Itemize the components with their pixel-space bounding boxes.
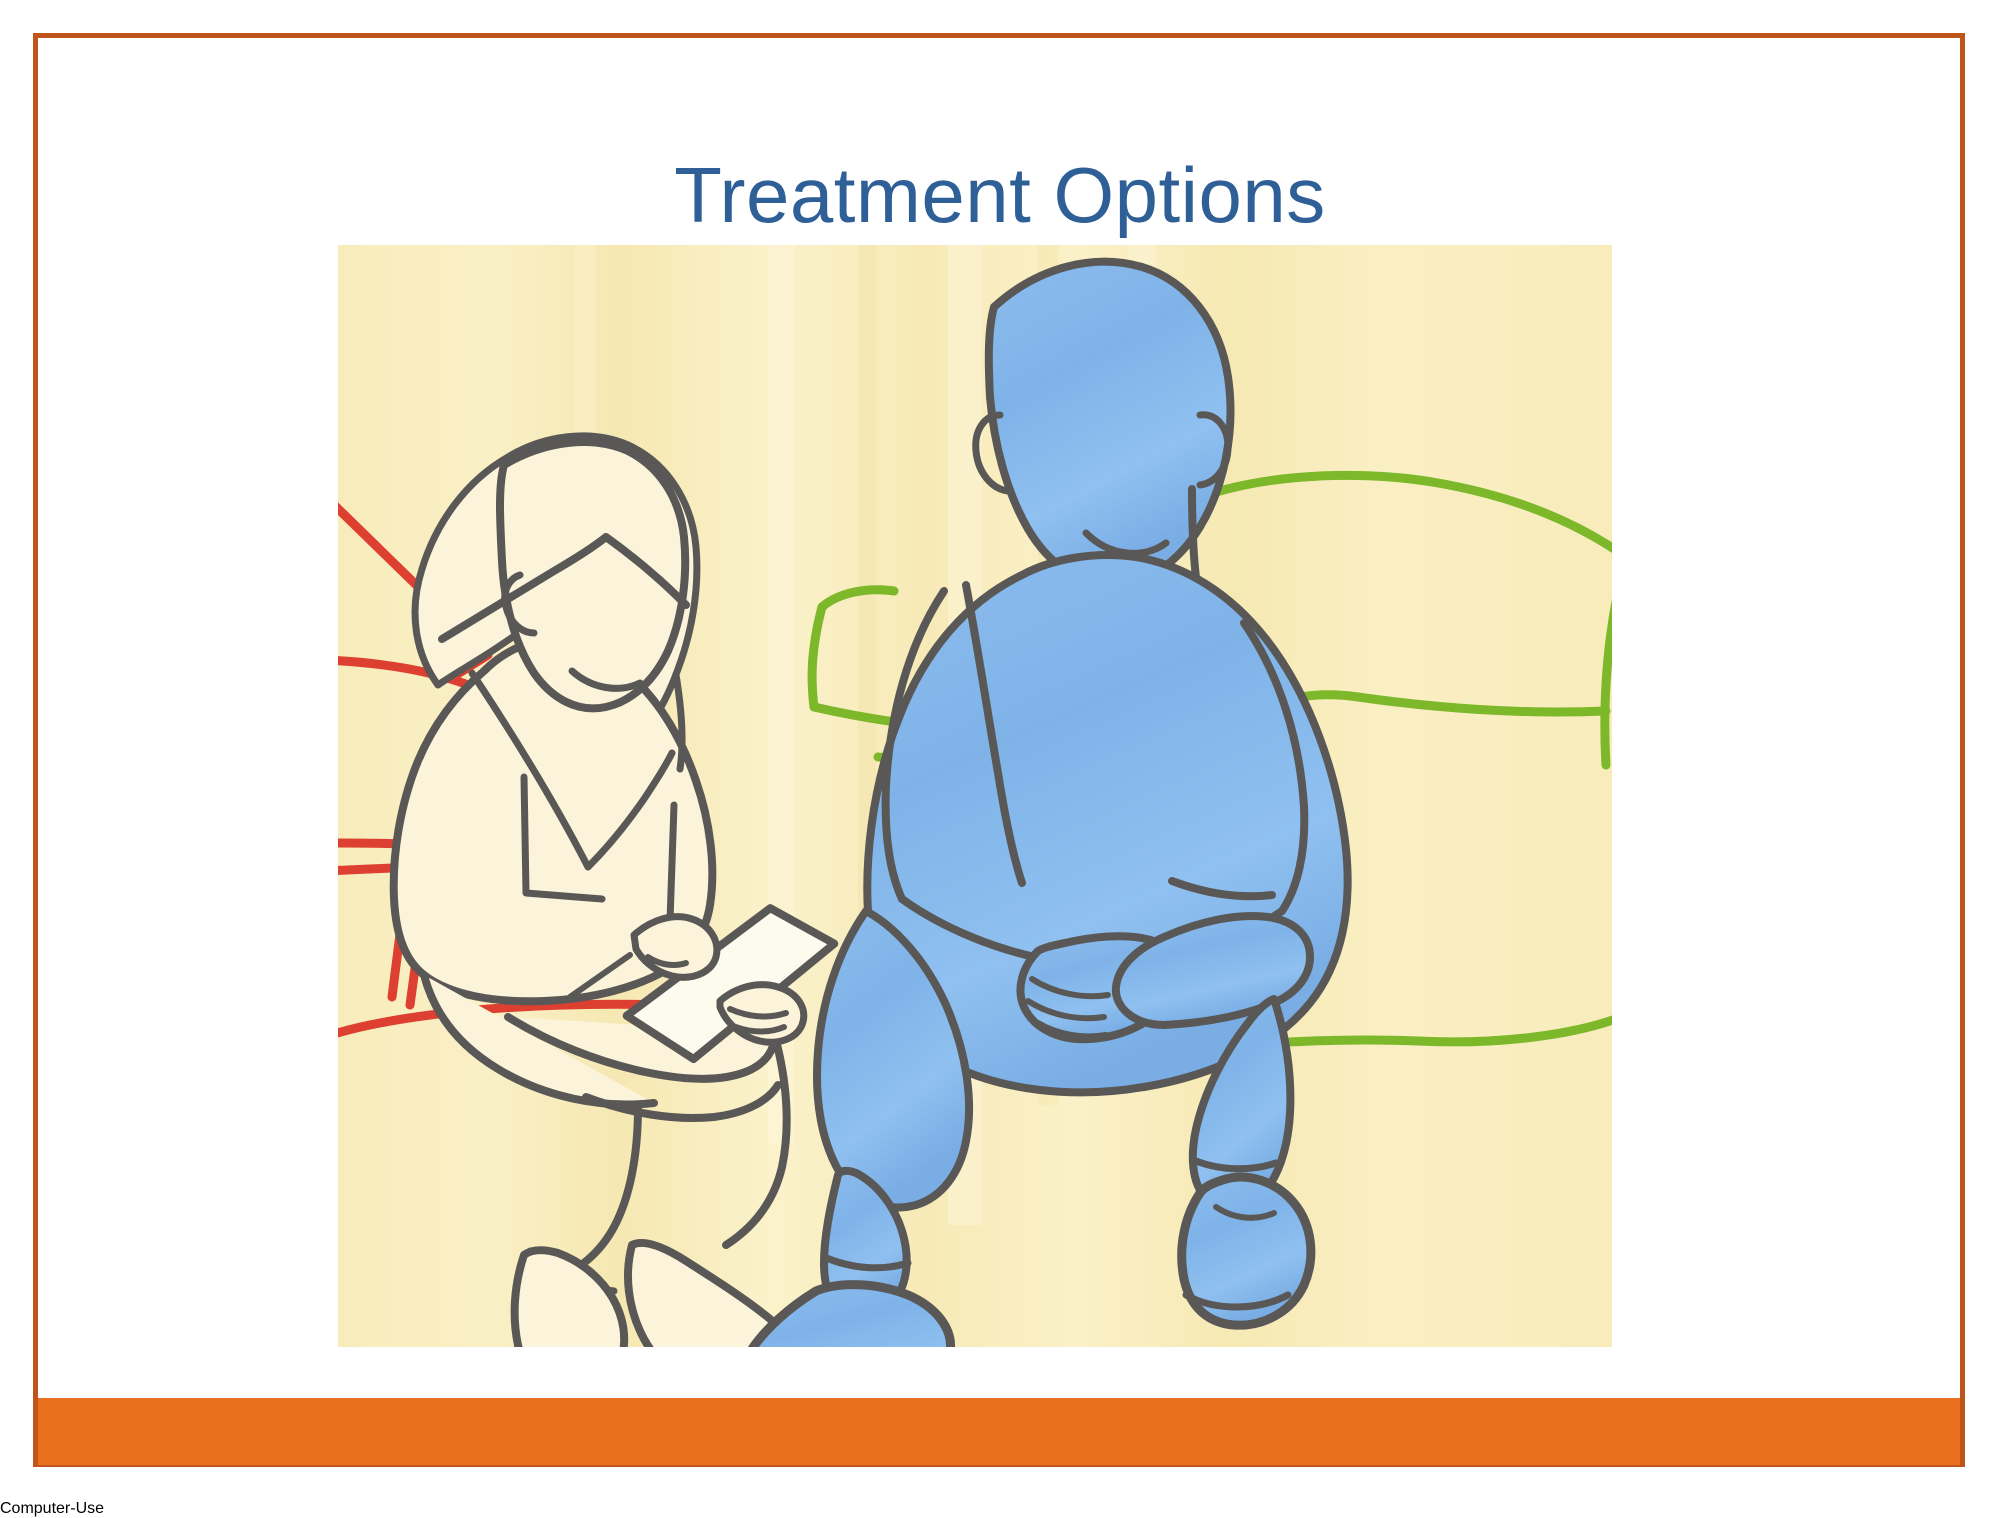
slide-canvas: Treatment Options	[0, 0, 2000, 1500]
footer-accent-bar	[38, 1398, 1960, 1465]
clinician-sleeve-wrinkle	[670, 805, 674, 921]
page-title: Treatment Options	[0, 156, 2000, 234]
illustration-artwork	[338, 245, 1612, 1347]
treatment-options-illustration	[338, 245, 1612, 1347]
